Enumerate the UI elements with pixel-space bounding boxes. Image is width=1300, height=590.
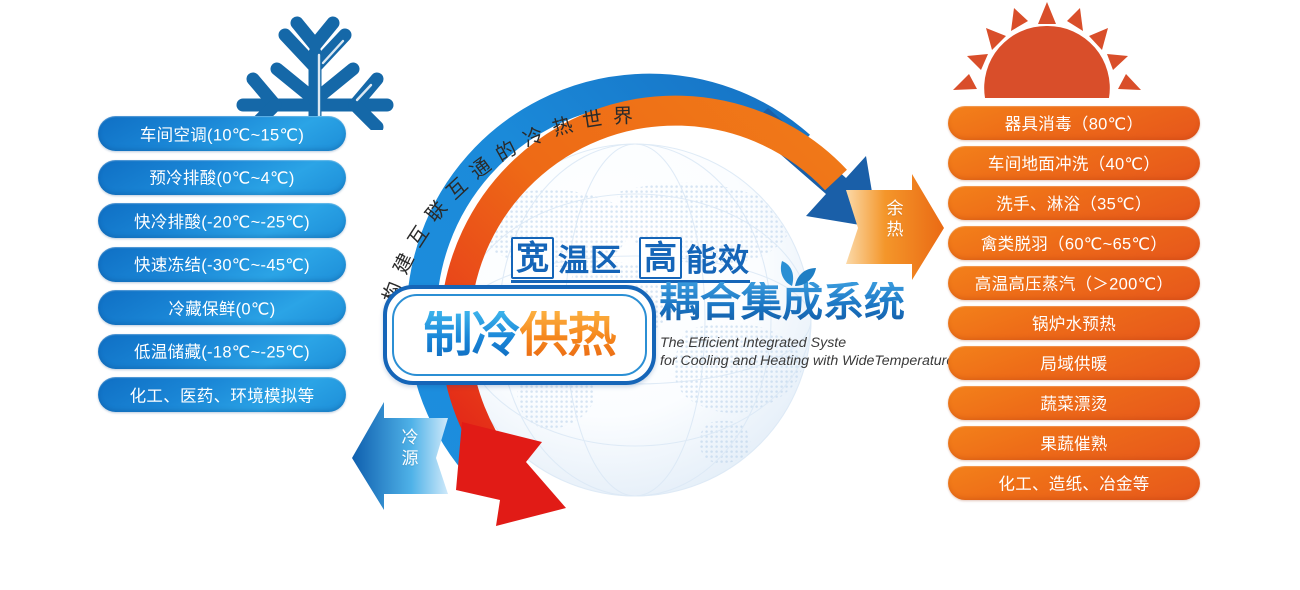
list-item[interactable]: 快冷排酸(-20℃~-25℃) <box>98 203 346 238</box>
list-item[interactable]: 蔬菜漂烫 <box>948 386 1200 420</box>
english-line-2: for Cooling and Heating with WideTempera… <box>660 352 954 370</box>
list-item[interactable]: 高温高压蒸汽（＞200℃） <box>948 266 1200 300</box>
hot-item-label: 锅炉水预热 <box>1032 311 1116 335</box>
cold-applications-list: 车间空调(10℃~15℃) 预冷排酸(0℃~4℃) 快冷排酸(-20℃~-25℃… <box>98 116 346 412</box>
headline-efficiency: 能效 <box>686 245 750 279</box>
list-item[interactable]: 车间地面冲洗（40℃） <box>948 146 1200 180</box>
list-item[interactable]: 化工、医药、环境模拟等 <box>98 377 346 412</box>
list-item[interactable]: 低温储藏(-18℃~-25℃) <box>98 334 346 369</box>
list-item[interactable]: 化工、造纸、冶金等 <box>948 466 1200 500</box>
list-item[interactable]: 禽类脱羽（60℃~65℃） <box>948 226 1200 260</box>
leaf-icon <box>773 259 817 287</box>
list-item[interactable]: 锅炉水预热 <box>948 306 1200 340</box>
cold-item-label: 快速冻结(-30℃~-45℃) <box>134 252 310 276</box>
headline-box-high: 高 <box>639 237 682 279</box>
list-item[interactable]: 预冷排酸(0℃~4℃) <box>98 160 346 195</box>
list-item[interactable]: 局域供暖 <box>948 346 1200 380</box>
heat-applications-list: 器具消毒（80℃） 车间地面冲洗（40℃） 洗手、淋浴（35℃） 禽类脱羽（60… <box>948 106 1200 500</box>
cold-item-label: 车间空调(10℃~15℃) <box>140 121 304 145</box>
list-item[interactable]: 器具消毒（80℃） <box>948 106 1200 140</box>
hot-item-label: 局域供暖 <box>1040 351 1107 375</box>
list-item[interactable]: 车间空调(10℃~15℃) <box>98 116 346 151</box>
cold-item-label: 预冷排酸(0℃~4℃) <box>149 165 294 189</box>
cold-source-label: 冷源 <box>399 427 421 469</box>
headline-wide-temp-high-efficiency: 宽 温区 高 能效 <box>511 237 750 283</box>
list-item[interactable]: 快速冻结(-30℃~-45℃) <box>98 247 346 282</box>
list-item[interactable]: 洗手、淋浴（35℃） <box>948 186 1200 220</box>
hot-item-label: 蔬菜漂烫 <box>1040 391 1107 415</box>
cold-item-label: 快冷排酸(-20℃~-25℃) <box>134 208 310 232</box>
hot-item-label: 器具消毒（80℃） <box>1005 111 1144 135</box>
cold-item-label: 化工、医药、环境模拟等 <box>130 382 315 406</box>
hot-item-label: 车间地面冲洗（40℃） <box>988 151 1160 175</box>
cooling-heating-badge: 制冷 供热 <box>383 285 656 385</box>
system-title: 耦合集成系统 <box>659 282 905 323</box>
headline-box-wide: 宽 <box>511 237 554 279</box>
hot-item-label: 化工、造纸、冶金等 <box>998 471 1149 495</box>
sun-icon <box>950 0 1145 110</box>
hot-item-label: 禽类脱羽（60℃~65℃） <box>981 231 1167 255</box>
waste-heat-label: 余热 <box>884 198 906 240</box>
hot-item-label: 洗手、淋浴（35℃） <box>996 191 1151 215</box>
hot-item-label: 果蔬催熟 <box>1040 431 1107 455</box>
hot-item-label: 高温高压蒸汽（＞200℃） <box>975 271 1173 295</box>
badge-text: 制冷 供热 <box>387 289 652 381</box>
cold-item-label: 冷藏保鲜(0℃) <box>168 295 275 319</box>
badge-cooling-text: 制冷 <box>423 311 519 360</box>
infographic-poster: 构建互联互通的冷热世界 余热 冷源 宽 温区 高 能效 制冷 供热 耦合集成系统 <box>0 0 1300 590</box>
english-line-1: The Efficient Integrated Syste <box>660 334 954 352</box>
cold-item-label: 低温储藏(-18℃~-25℃) <box>134 339 310 363</box>
headline-temp-zone: 温区 <box>558 245 622 279</box>
badge-heating-text: 供热 <box>520 311 616 360</box>
english-subtitle: The Efficient Integrated Syste for Cooli… <box>660 334 954 370</box>
logo-lockup: 宽 温区 高 能效 制冷 供热 耦合集成系统 The Efficient Int… <box>383 237 943 397</box>
list-item[interactable]: 果蔬催熟 <box>948 426 1200 460</box>
list-item[interactable]: 冷藏保鲜(0℃) <box>98 290 346 325</box>
